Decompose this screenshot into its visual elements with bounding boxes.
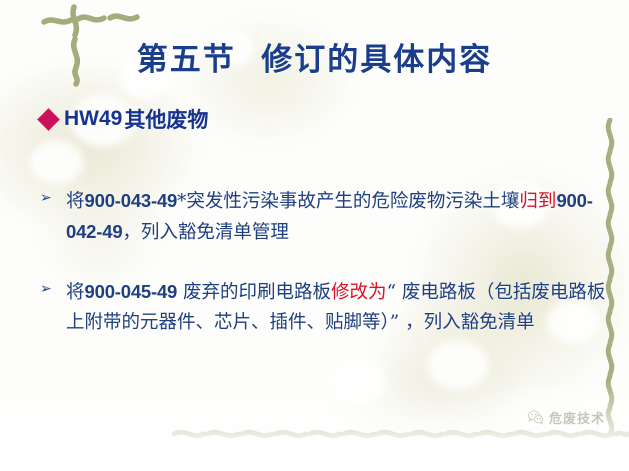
bullet-segment-code: 900-043-49 xyxy=(85,190,178,211)
bullet-segment: ，列入豁免清单管理 xyxy=(122,222,289,243)
arrow-bullet-icon: ➢ xyxy=(40,282,57,296)
heading-label: 其他废物 xyxy=(124,104,208,134)
watermark-text: 危废技术 xyxy=(549,408,605,427)
diamond-bullet-icon xyxy=(39,110,57,128)
bullet-item: ➢ 将900-045-49 废弃的印刷电路板修改为“ 废电路板（包括废电路板上附… xyxy=(40,277,610,338)
bullet-segment-emphasis: 归到 xyxy=(519,191,556,212)
bullet-item: ➢ 将900-043-49*突发性污染事故产生的危险废物污染土壤归到900-04… xyxy=(40,186,600,248)
bullet-segment: 废弃的印刷电路板 xyxy=(177,282,331,303)
bullet-segment: 将 xyxy=(66,191,85,212)
presentation-slide: 第五节 修订的具体内容 HW49 其他废物 ➢ 将900-043-49*突发性污… xyxy=(0,0,629,471)
wechat-icon xyxy=(527,409,544,426)
watermark: 危废技术 xyxy=(527,408,605,427)
bullet-segment-code: 900-045-49 xyxy=(85,281,178,302)
bullet-segment: *突发性污染事故产生的危险废物污染土壤 xyxy=(177,191,519,212)
heading-code: HW49 xyxy=(64,107,122,131)
bullet-text: 将900-043-49*突发性污染事故产生的危险废物污染土壤归到900-042-… xyxy=(66,186,600,248)
arrow-bullet-icon: ➢ xyxy=(40,191,57,205)
bullet-text: 将900-045-49 废弃的印刷电路板修改为“ 废电路板（包括废电路板上附带的… xyxy=(66,277,610,338)
section-heading: HW49 其他废物 xyxy=(42,104,208,134)
bullet-segment: 将 xyxy=(66,282,85,303)
slide-title: 第五节 修订的具体内容 xyxy=(0,34,629,79)
bullet-segment-emphasis: 修改为 xyxy=(331,282,387,303)
